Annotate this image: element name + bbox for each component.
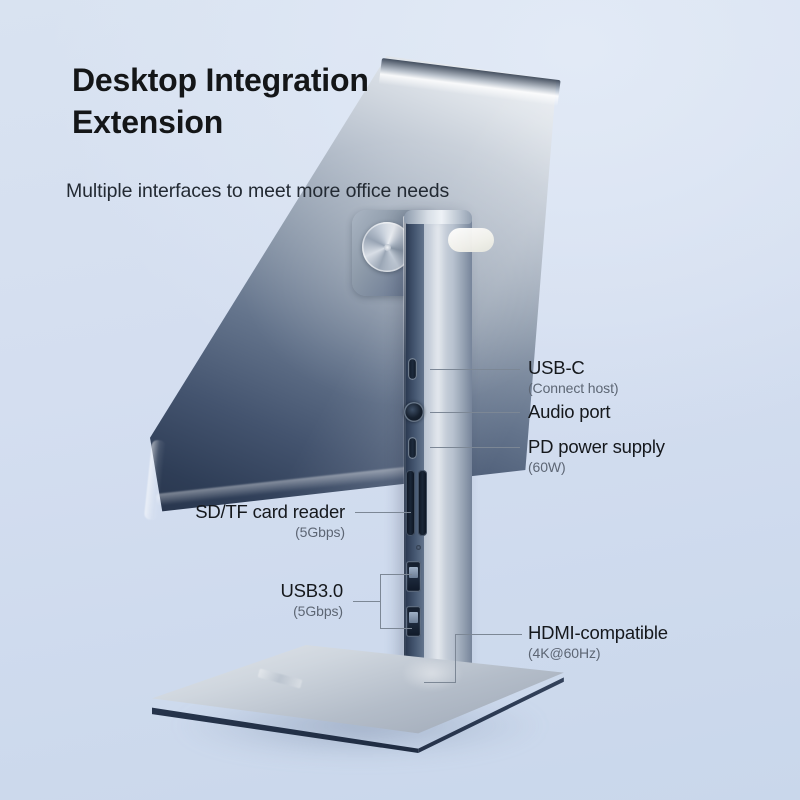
- leader-line-usb3-lower-arm: [380, 628, 412, 629]
- port-audio-jack: [404, 402, 424, 422]
- port-sd-card-slot: [406, 470, 415, 536]
- leader-line-usb3-stub: [353, 601, 381, 602]
- port-usb3-a-lower: [406, 606, 421, 637]
- subheadline: Multiple interfaces to meet more office …: [66, 180, 566, 203]
- callout-pd: PD power supply (60W): [528, 436, 665, 476]
- leader-line-sd-tf: [355, 512, 411, 513]
- callout-hdmi-title: HDMI-compatible: [528, 622, 668, 643]
- product-marketing-image: Desktop Integration Extension Multiple i…: [0, 0, 800, 800]
- leader-line-pd: [430, 447, 520, 448]
- leader-line-usb3-spine: [380, 574, 381, 628]
- callout-hdmi: HDMI-compatible (4K@60Hz): [528, 622, 668, 662]
- callout-pd-title: PD power supply: [528, 436, 665, 457]
- callout-audio: Audio port: [528, 401, 610, 422]
- leader-line-hdmi-lower: [424, 682, 456, 683]
- port-usb-c-host: [408, 358, 417, 380]
- callout-usb-c-sub: (Connect host): [528, 380, 618, 397]
- column-foot-glow: [404, 660, 474, 694]
- hub-column-specular-reflection: [448, 228, 494, 252]
- callout-usb3-sub: (5Gbps): [0, 603, 343, 620]
- port-usb3-a-upper: [406, 561, 421, 592]
- callout-sd-tf-title: SD/TF card reader: [0, 501, 345, 522]
- port-tf-card-slot: [418, 470, 427, 536]
- callout-audio-title: Audio port: [528, 401, 610, 422]
- callout-usb3-title: USB3.0: [0, 580, 343, 601]
- port-usb-c-pd: [408, 437, 417, 459]
- callout-sd-tf: SD/TF card reader (5Gbps): [0, 501, 345, 541]
- leader-line-hdmi-riser: [455, 634, 456, 683]
- callout-hdmi-sub: (4K@60Hz): [528, 645, 668, 662]
- callout-usb-c-title: USB-C: [528, 357, 618, 378]
- callout-sd-tf-sub: (5Gbps): [0, 524, 345, 541]
- callout-usb-c: USB-C (Connect host): [528, 357, 618, 397]
- leader-line-audio: [430, 412, 520, 413]
- leader-line-hdmi-upper: [455, 634, 522, 635]
- headline: Desktop Integration Extension: [72, 60, 542, 143]
- callout-usb3: USB3.0 (5Gbps): [0, 580, 343, 620]
- leader-line-usb-c: [430, 369, 520, 370]
- callout-pd-sub: (60W): [528, 459, 665, 476]
- status-led: [416, 545, 421, 550]
- hub-column-sheen: [430, 224, 446, 686]
- hub-column-top-cap: [404, 210, 472, 224]
- leader-line-usb3-upper-arm: [380, 574, 412, 575]
